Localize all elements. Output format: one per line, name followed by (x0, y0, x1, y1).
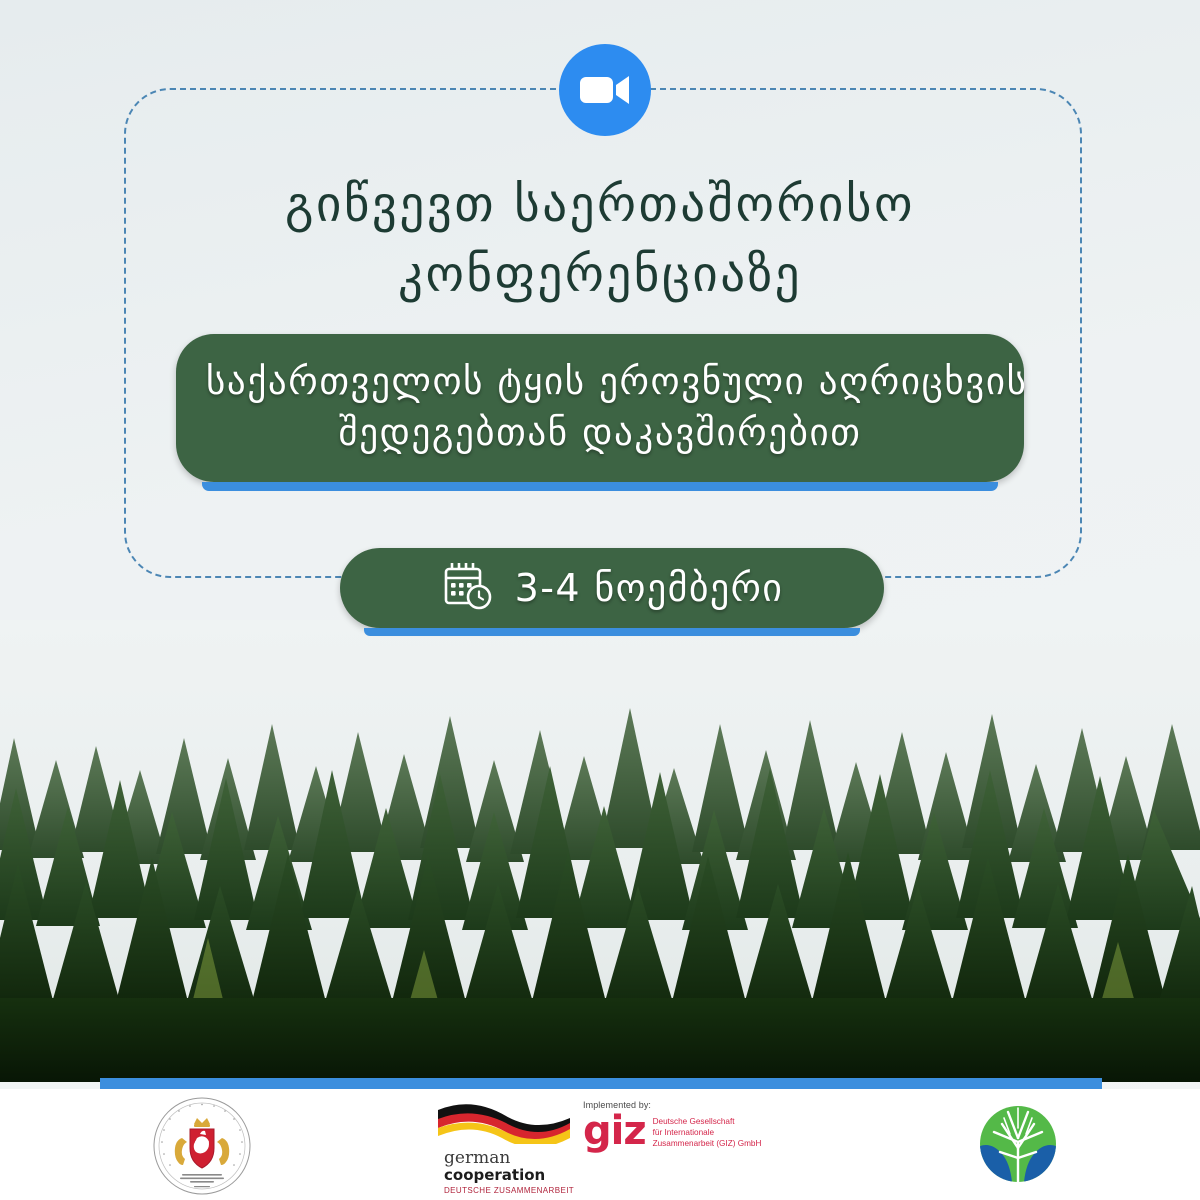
conference-announcement-poster: გიწვევთ საერთაშორისო კონფერენციაზე საქარ… (0, 0, 1200, 1200)
subject-line-1: საქართველოს ტყის ეროვნული აღრიცხვის (206, 356, 994, 407)
calendar-clock-icon (441, 559, 495, 617)
ministry-of-environmental-protection-and-agriculture-of-georgia-seal (152, 1096, 252, 1196)
giz-sub-line-1: Deutsche Gesellschaft (653, 1117, 762, 1128)
giz-wordmark: giz (583, 1115, 646, 1148)
video-camera-icon (559, 44, 651, 136)
german-cooperation-line-1: german (444, 1150, 577, 1167)
subject-banner: საქართველოს ტყის ეროვნული აღრიცხვის შედე… (176, 334, 1024, 482)
headline-line-2: კონფერენციაზე (0, 240, 1200, 310)
subject-line-2: შედეგებთან დაკავშირებით (206, 407, 994, 458)
giz-sub-line-3: Zusammenarbeit (GIZ) GmbH (653, 1139, 762, 1150)
subject-banner-accent-bar (202, 482, 998, 491)
date-banner: 3-4 ნოემბერი (340, 548, 884, 628)
german-cooperation-line-3: DEUTSCHE ZUSAMMENARBEIT (444, 1186, 577, 1195)
national-forestry-agency-tree-logo (972, 1098, 1064, 1190)
german-cooperation-line-2: cooperation (444, 1167, 577, 1184)
giz-logo: Implemented by: giz Deutsche Gesellschaf… (583, 1100, 763, 1180)
forest-photograph (0, 620, 1200, 1082)
headline-line-1: გიწვევთ საერთაშორისო (0, 170, 1200, 240)
german-cooperation-logo: german cooperation DEUTSCHE ZUSAMMENARBE… (432, 1098, 577, 1186)
giz-sub-line-2: für Internationale (653, 1128, 762, 1139)
dashed-border-frame (124, 88, 1082, 578)
date-banner-accent-bar (364, 628, 860, 636)
date-text: 3-4 ნოემბერი (515, 566, 784, 610)
footer-divider-bar (100, 1078, 1102, 1089)
page-title: გიწვევთ საერთაშორისო კონფერენციაზე (0, 170, 1200, 309)
